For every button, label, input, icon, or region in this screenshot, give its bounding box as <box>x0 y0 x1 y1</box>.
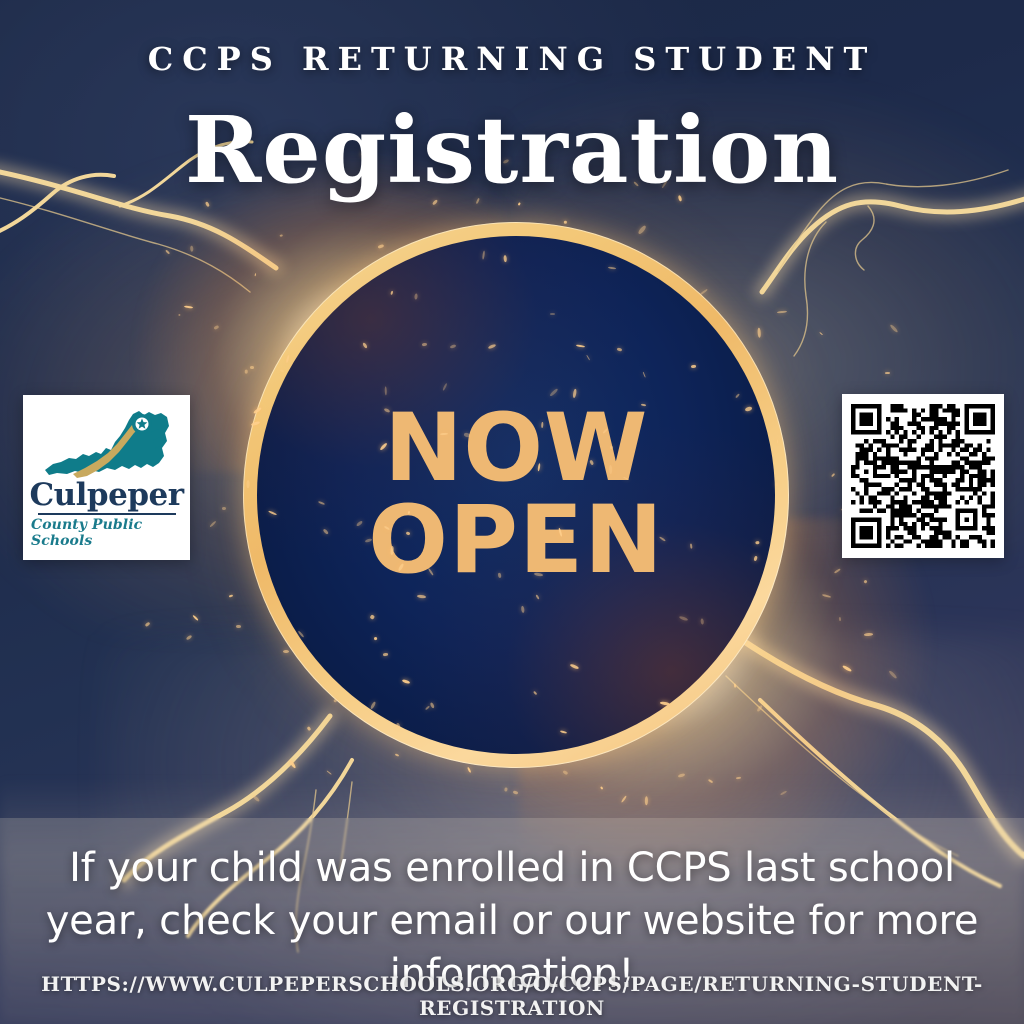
qr-code-icon[interactable] <box>851 403 995 549</box>
culpeper-logo: Culpeper County Public Schools <box>23 395 190 560</box>
gold-ring: NOW OPEN <box>243 222 789 768</box>
registration-url: HTTPS://WWW.CULPEPERSCHOOLS.ORG/O/CCPS/P… <box>0 972 1024 1020</box>
virginia-state-outline-icon <box>43 406 171 478</box>
kicker-text: CCPS RETURNING STUDENT <box>0 40 1024 78</box>
logo-tagline: County Public Schools <box>31 517 182 549</box>
logo-divider <box>38 513 176 515</box>
logo-wordmark: Culpeper <box>29 480 183 511</box>
badge-copy: NOW OPEN <box>243 222 789 768</box>
registration-poster: NOW OPEN CCPS RETURNING STUDENT Registra… <box>0 0 1024 1024</box>
now-open-badge: NOW OPEN <box>243 222 789 768</box>
badge-line-1: NOW <box>384 406 648 492</box>
page-title: Registration <box>0 96 1024 204</box>
qr-code-card[interactable] <box>842 394 1004 558</box>
badge-line-2: OPEN <box>368 498 664 584</box>
